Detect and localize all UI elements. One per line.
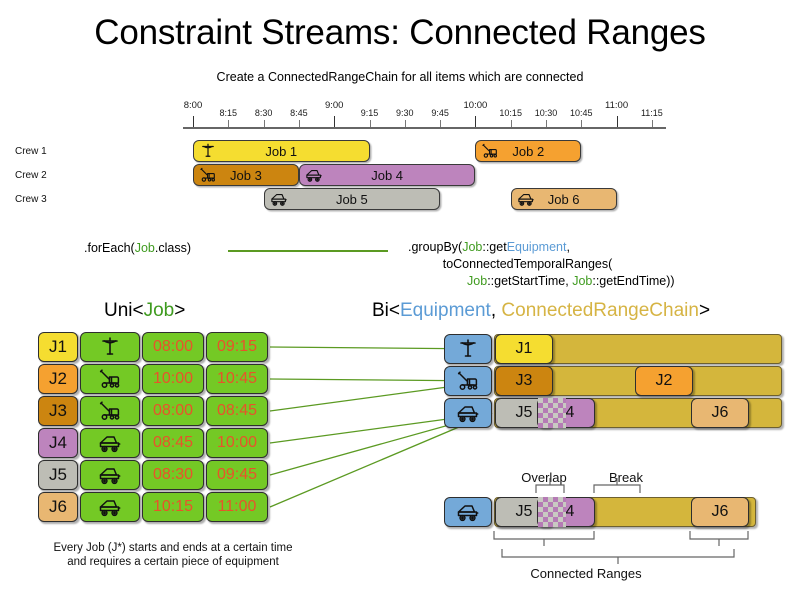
axis-tick xyxy=(511,120,512,127)
chain-segment-label: J6 xyxy=(712,404,729,422)
table-row[interactable]: J5 J4 J6 xyxy=(444,398,774,428)
annotation-break: Break xyxy=(596,470,656,485)
code-token: ::get xyxy=(482,240,506,254)
connected-range-chain[interactable]: J3 J2 xyxy=(494,366,782,396)
job-start-cell[interactable]: 08:45 xyxy=(142,428,204,458)
axis-tick xyxy=(652,120,653,127)
truck-icon xyxy=(97,463,123,487)
job-start-cell[interactable]: 08:00 xyxy=(142,332,204,362)
job-id-label: J6 xyxy=(49,497,67,517)
job-id-label: J4 xyxy=(49,433,67,453)
job-equipment-cell[interactable] xyxy=(80,428,140,458)
gantt-bar-label: Job 3 xyxy=(230,168,262,183)
code-block: .forEach(Job.class) .groupBy(Job::getEqu… xyxy=(0,236,800,298)
axis-tick-label: 10:15 xyxy=(499,108,522,118)
axis-tick-label: 8:30 xyxy=(255,108,273,118)
chain-segment[interactable]: J6 xyxy=(691,497,749,527)
job-end-cell[interactable]: 10:00 xyxy=(206,428,268,458)
axis-tick-label: 8:45 xyxy=(290,108,308,118)
chain-segment-label: J5 xyxy=(516,503,533,521)
gantt-bar-label: Job 4 xyxy=(371,168,403,183)
detail-diagram: J5 J4 J6 xyxy=(444,497,784,537)
axis-tick xyxy=(264,120,265,127)
footnote-line: and requires a certain piece of equipmen… xyxy=(8,555,338,569)
job-end-cell[interactable]: 08:45 xyxy=(206,396,268,426)
crew-label: Crew 2 xyxy=(15,170,47,181)
gantt-bar[interactable]: Job 5 xyxy=(264,188,441,210)
code-line: Job::getStartTime, Job::getEndTime)) xyxy=(408,273,675,290)
job-id-cell[interactable]: J6 xyxy=(38,492,78,522)
code-token: ConnectedRangeChain xyxy=(501,300,699,321)
excavator-icon xyxy=(97,399,123,423)
job-id-cell[interactable]: J5 xyxy=(38,460,78,490)
truck-icon xyxy=(516,190,536,208)
gantt-bar[interactable]: Job 3 xyxy=(193,164,299,186)
connected-range-chain[interactable]: J5 J4 J6 xyxy=(494,497,756,527)
equipment-badge[interactable] xyxy=(444,366,492,396)
job-end-cell[interactable]: 10:45 xyxy=(206,364,268,394)
chain-segment-label: J5 xyxy=(516,404,533,422)
code-foreach: .forEach(Job.class) xyxy=(84,241,191,255)
job-end-label: 10:00 xyxy=(217,434,257,452)
chain-segment[interactable]: J1 xyxy=(495,334,553,364)
drill-icon xyxy=(97,335,123,359)
excavator-icon xyxy=(198,166,218,184)
footnote: Every Job (J*) starts and ends at a cert… xyxy=(8,541,338,569)
equipment-badge[interactable] xyxy=(444,334,492,364)
page-title: Constraint Streams: Connected Ranges xyxy=(0,14,800,53)
axis-tick xyxy=(370,120,371,127)
code-line: toConnectedTemporalRanges( xyxy=(408,256,675,273)
job-equipment-cell[interactable] xyxy=(80,492,140,522)
axis-tick-label: 8:00 xyxy=(184,100,203,111)
code-token: .forEach( xyxy=(84,241,135,255)
axis-tick xyxy=(581,120,582,127)
heading-uni-job: Uni<Job> xyxy=(104,300,185,322)
excavator-icon xyxy=(480,142,500,160)
code-token: Job xyxy=(467,274,487,288)
axis-tick xyxy=(440,120,441,127)
axis-tick xyxy=(475,116,476,127)
truck-icon xyxy=(304,166,324,184)
code-line: .groupBy(Job::getEquipment, xyxy=(408,239,675,256)
code-token: Bi< xyxy=(372,300,400,321)
flow-arrow xyxy=(228,250,388,252)
job-id-cell[interactable]: J3 xyxy=(38,396,78,426)
chain-segment-label: J1 xyxy=(516,340,533,358)
chain-segment[interactable]: J2 xyxy=(635,366,693,396)
excavator-icon xyxy=(455,369,481,393)
job-equipment-cell[interactable] xyxy=(80,396,140,426)
job-end-cell[interactable]: 09:15 xyxy=(206,332,268,362)
gantt-bar-equipment-icon xyxy=(198,166,218,184)
code-token: > xyxy=(174,300,185,321)
axis-tick-label: 11:15 xyxy=(641,108,663,118)
table-row[interactable]: J3 J2 xyxy=(444,366,774,396)
job-end-cell[interactable]: 11:00 xyxy=(206,492,268,522)
job-id-label: J3 xyxy=(49,401,67,421)
gantt-bar-equipment-icon xyxy=(516,190,536,208)
gantt-bar-label: Job 2 xyxy=(512,144,544,159)
chain-segment-label: J6 xyxy=(712,503,729,521)
code-token: .groupBy( xyxy=(408,240,462,254)
heading-bi-equipment-chain: Bi<Equipment, ConnectedRangeChain> xyxy=(372,300,710,322)
drill-icon xyxy=(198,142,218,160)
axis-tick-label: 10:45 xyxy=(570,108,593,118)
code-token: Job xyxy=(144,300,175,321)
job-end-label: 10:45 xyxy=(217,370,257,388)
job-start-cell[interactable]: 08:30 xyxy=(142,460,204,490)
axis-tick-label: 9:45 xyxy=(431,108,449,118)
axis-tick-label: 9:00 xyxy=(325,100,344,111)
connected-range-chain[interactable]: J1 xyxy=(494,334,782,364)
annotation-overlap: Overlap xyxy=(509,470,579,485)
truck-icon xyxy=(269,190,289,208)
code-token: Job xyxy=(135,241,155,255)
code-token: .class) xyxy=(155,241,191,255)
code-token: ::getStartTime, xyxy=(487,274,572,288)
code-token: > xyxy=(699,300,710,321)
axis-tick xyxy=(228,120,229,127)
job-equipment-cell[interactable] xyxy=(80,364,140,394)
code-token: toConnectedTemporalRanges( xyxy=(408,257,612,271)
connected-range-chain[interactable]: J5 J4 J6 xyxy=(494,398,782,428)
gantt-chart: 8:008:158:308:459:009:159:309:4510:0010:… xyxy=(0,96,800,218)
job-id-cell[interactable]: J1 xyxy=(38,332,78,362)
subtitle: Create a ConnectedRangeChain for all ite… xyxy=(0,70,800,84)
equipment-badge[interactable] xyxy=(444,398,492,428)
job-start-label: 08:00 xyxy=(153,402,193,420)
axis-tick-label: 11:00 xyxy=(605,100,628,111)
code-token: Job xyxy=(462,240,482,254)
gantt-bar-equipment-icon xyxy=(304,166,324,184)
gantt-bar-label: Job 1 xyxy=(265,144,297,159)
annotation-connected-ranges: Connected Ranges xyxy=(486,566,686,581)
code-groupby: .groupBy(Job::getEquipment, toConnectedT… xyxy=(408,239,675,290)
gantt-bar-equipment-icon xyxy=(480,142,500,160)
chain-segment[interactable]: J3 xyxy=(495,366,553,396)
chain-segment[interactable]: J6 xyxy=(691,398,749,428)
overlap-region xyxy=(538,398,566,428)
gantt-bar-equipment-icon xyxy=(269,190,289,208)
overlap-region xyxy=(538,497,566,527)
detail-row: J5 J4 J6 xyxy=(444,497,774,527)
drill-icon xyxy=(455,337,481,361)
crew-label: Crew 3 xyxy=(15,194,47,205)
axis-line xyxy=(183,127,666,129)
code-token: Job xyxy=(572,274,592,288)
job-start-cell[interactable]: 08:00 xyxy=(142,396,204,426)
excavator-icon xyxy=(97,367,123,391)
gantt-bar[interactable]: Job 6 xyxy=(511,188,617,210)
code-token: Equipment xyxy=(400,300,491,321)
code-token xyxy=(408,274,467,288)
axis-tick-label: 10:30 xyxy=(535,108,558,118)
axis-tick-label: 8:15 xyxy=(220,108,238,118)
job-equipment-cell[interactable] xyxy=(80,460,140,490)
code-token: Uni< xyxy=(104,300,144,321)
job-end-label: 09:15 xyxy=(217,338,257,356)
equipment-badge[interactable] xyxy=(444,497,492,527)
truck-icon xyxy=(97,495,123,519)
crew-label: Crew 1 xyxy=(15,146,47,157)
gantt-bar[interactable]: Job 1 xyxy=(193,140,370,162)
job-end-label: 08:45 xyxy=(217,402,257,420)
axis-tick xyxy=(546,120,547,127)
axis-tick-label: 10:00 xyxy=(464,100,488,111)
bi-chain-table: J1 J3 J2 J5 J4 xyxy=(444,334,774,430)
job-id-label: J2 xyxy=(49,369,67,389)
table-row[interactable]: J1 xyxy=(444,334,774,364)
chain-segment-label: J2 xyxy=(656,372,673,390)
gantt-bar-label: Job 6 xyxy=(548,192,580,207)
truck-icon xyxy=(455,401,481,425)
code-token: , xyxy=(566,240,569,254)
job-start-label: 08:45 xyxy=(153,434,193,452)
footnote-line: Every Job (J*) starts and ends at a cert… xyxy=(8,541,338,555)
axis-tick xyxy=(193,116,194,127)
axis-tick xyxy=(334,116,335,127)
slide-root: Constraint Streams: Connected Ranges Cre… xyxy=(0,0,800,600)
chain-segment-label: J3 xyxy=(516,372,533,390)
truck-icon xyxy=(97,431,123,455)
gantt-bar[interactable]: Job 2 xyxy=(475,140,581,162)
axis-tick-label: 9:15 xyxy=(361,108,379,118)
job-start-label: 08:30 xyxy=(153,466,193,484)
job-end-label: 09:45 xyxy=(217,466,257,484)
job-end-cell[interactable]: 09:45 xyxy=(206,460,268,490)
axis-tick xyxy=(405,120,406,127)
code-token: ::getEndTime)) xyxy=(592,274,674,288)
gantt-bar[interactable]: Job 4 xyxy=(299,164,476,186)
job-start-label: 10:15 xyxy=(153,498,193,516)
code-token: Equipment xyxy=(507,240,567,254)
job-start-cell[interactable]: 10:00 xyxy=(142,364,204,394)
job-id-label: J5 xyxy=(49,465,67,485)
axis-tick xyxy=(299,120,300,127)
job-equipment-cell[interactable] xyxy=(80,332,140,362)
gantt-bar-equipment-icon xyxy=(198,142,218,160)
job-id-cell[interactable]: J4 xyxy=(38,428,78,458)
job-end-label: 11:00 xyxy=(218,498,257,516)
job-id-label: J1 xyxy=(49,337,67,357)
job-start-cell[interactable]: 10:15 xyxy=(142,492,204,522)
axis-tick xyxy=(617,116,618,127)
gantt-bar-label: Job 5 xyxy=(336,192,368,207)
code-token: , xyxy=(491,300,502,321)
truck-icon xyxy=(455,500,481,524)
job-start-label: 10:00 xyxy=(153,370,193,388)
job-start-label: 08:00 xyxy=(153,338,193,356)
job-id-cell[interactable]: J2 xyxy=(38,364,78,394)
axis-tick-label: 9:30 xyxy=(396,108,414,118)
